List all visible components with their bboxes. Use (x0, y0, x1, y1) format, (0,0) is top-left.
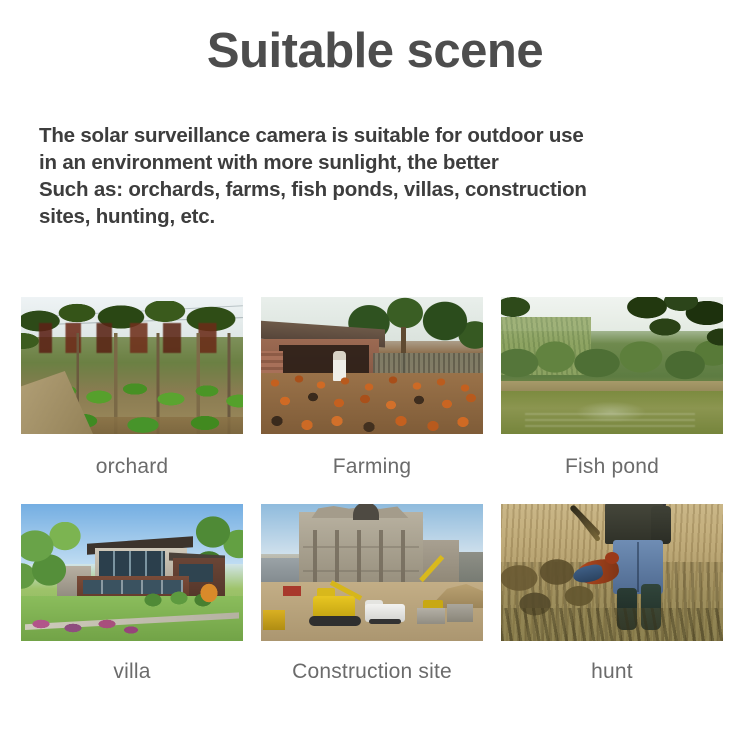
villa-flower-bed (27, 616, 139, 638)
orchard-photo (21, 297, 243, 434)
fish-pond-photo (501, 297, 723, 434)
hunt-pheasant-head (605, 552, 619, 564)
intro-paragraph: The solar surveillance camera is suitabl… (39, 122, 729, 230)
villa-autumn-tree (197, 580, 221, 606)
construction-building-windows (303, 530, 419, 586)
scene-card-hunt: hunt (501, 504, 723, 684)
scene-card-orchard: orchard (21, 297, 243, 479)
hunt-foreground-grass (501, 608, 723, 641)
villa-photo (21, 504, 243, 641)
scene-card-fish-pond: Fish pond (501, 297, 723, 479)
scene-card-farming: Farming (261, 297, 483, 479)
scene-caption-construction-site: Construction site (261, 660, 483, 684)
hunt-photo (501, 504, 723, 641)
pond-overhanging-leaves (621, 297, 723, 355)
scene-grid: orchard Farming (21, 297, 723, 684)
construction-concrete-slab-2 (447, 604, 473, 622)
scene-caption-fish-pond: Fish pond (501, 455, 723, 479)
farming-chicken-flock (261, 371, 483, 434)
construction-concrete-slab-1 (417, 608, 445, 624)
construction-van-wheels (369, 619, 401, 624)
construction-excavator-tracks (309, 616, 361, 626)
intro-line-2: in an environment with more sunlight, th… (39, 149, 729, 176)
intro-line-4: sites, hunting, etc. (39, 203, 729, 230)
scene-caption-orchard: orchard (21, 455, 243, 479)
scene-card-construction-site: Construction site (261, 504, 483, 684)
villa-glass-facade (99, 551, 165, 577)
intro-line-3: Such as: orchards, farms, fish ponds, vi… (39, 176, 729, 203)
scene-caption-farming: Farming (261, 455, 483, 479)
pond-left-leaves (501, 297, 551, 329)
scene-row-1: orchard Farming (21, 297, 723, 479)
intro-line-1: The solar surveillance camera is suitabl… (39, 122, 729, 149)
villa-tree-left (21, 522, 95, 596)
construction-excavator-body (313, 596, 355, 618)
construction-building-dome (353, 504, 379, 520)
hunt-jeans-seam (637, 542, 639, 592)
pond-ripples (525, 409, 695, 427)
farming-photo (261, 297, 483, 434)
scene-caption-hunt: hunt (501, 660, 723, 684)
construction-site-photo (261, 504, 483, 641)
scene-card-villa: villa (21, 504, 243, 684)
scene-row-2: villa (21, 504, 723, 684)
page-title: Suitable scene (0, 26, 750, 77)
scene-caption-villa: villa (21, 660, 243, 684)
construction-equipment-box (263, 610, 285, 630)
construction-red-marker (283, 586, 301, 596)
hunt-hunter-sleeve (651, 506, 671, 544)
suitable-scene-page: Suitable scene The solar surveillance ca… (0, 0, 750, 750)
